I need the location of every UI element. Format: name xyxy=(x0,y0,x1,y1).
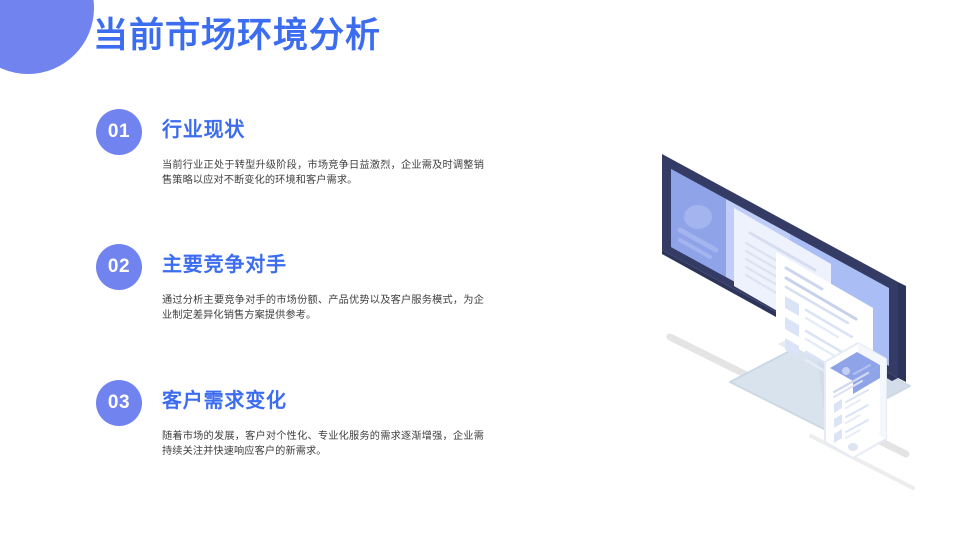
smartphone-illustration xyxy=(825,343,886,458)
page-title: 当前市场环境分析 xyxy=(93,14,381,58)
corner-decoration-circle xyxy=(0,0,94,74)
item-heading: 客户需求变化 xyxy=(162,384,287,413)
phone-home-button-icon xyxy=(848,443,858,451)
item-number-badge: 02 xyxy=(96,244,142,290)
item-number-badge: 01 xyxy=(96,109,142,155)
desktop-monitor-illustration xyxy=(640,140,960,500)
item-number-badge: 03 xyxy=(96,380,142,426)
phone-avatar-icon xyxy=(842,367,850,375)
slide-canvas: 当前市场环境分析 01 行业现状 当前行业正处于转型升级阶段，市场竞争日益激烈，… xyxy=(0,0,960,540)
item-body-text: 当前行业正处于转型升级阶段，市场竞争日益激烈，企业需及时调整销售策略以应对不断变… xyxy=(162,159,484,188)
item-heading: 主要竞争对手 xyxy=(162,248,287,277)
sidebar-avatar-icon xyxy=(684,205,712,229)
item-body-text: 通过分析主要竞争对手的市场份额、产品优势以及客户服务模式，为企业制定差异化销售方… xyxy=(162,294,484,323)
item-heading: 行业现状 xyxy=(162,113,245,142)
item-body-text: 随着市场的发展，客户对个性化、专业化服务的需求逐渐增强，企业需持续关注并快速响应… xyxy=(162,430,484,459)
